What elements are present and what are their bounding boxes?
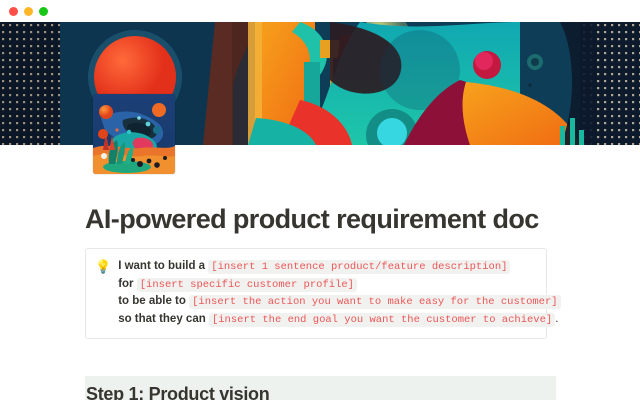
callout-line: I want to build a [insert 1 sentence pro… (118, 258, 560, 276)
callout-text: I want to build a [insert 1 sentence pro… (118, 258, 560, 328)
callout-line: so that they can [insert the end goal yo… (118, 311, 560, 329)
minimize-button[interactable] (24, 7, 33, 16)
page-content: AI-powered product requirement doc 💡 I w… (0, 145, 640, 400)
callout-block[interactable]: 💡 I want to build a [insert 1 sentence p… (85, 248, 547, 339)
callout-lead: I want to build a (118, 260, 205, 272)
window-titlebar (0, 0, 640, 22)
callout-placeholder[interactable]: [insert specific customer profile] (137, 278, 357, 292)
callout-lead: so that they can (118, 313, 206, 325)
maximize-button[interactable] (39, 7, 48, 16)
callout-lead: for (118, 278, 133, 290)
callout-lead: to be able to (118, 295, 186, 307)
callout-placeholder[interactable]: [insert the action you want to make easy… (189, 295, 560, 309)
callout-line: to be able to [insert the action you wan… (118, 293, 560, 311)
callout-tail: . (555, 313, 558, 325)
callout-placeholder[interactable]: [insert the end goal you want the custom… (209, 313, 555, 327)
close-button[interactable] (9, 7, 18, 16)
app-window: AI-powered product requirement doc 💡 I w… (0, 0, 640, 400)
callout-line: for [insert specific customer profile] (118, 276, 560, 294)
callout-placeholder[interactable]: [insert 1 sentence product/feature descr… (208, 260, 510, 274)
lightbulb-icon: 💡 (95, 258, 111, 275)
section-heading-step-1[interactable]: Step 1: Product vision (85, 376, 556, 400)
page-title[interactable]: AI-powered product requirement doc (85, 203, 565, 235)
